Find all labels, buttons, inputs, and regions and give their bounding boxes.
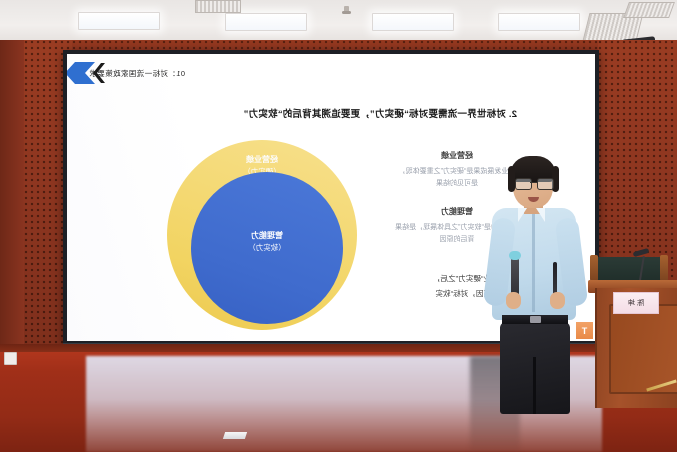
diagram-outer-label-line1: 经营业绩 <box>167 154 357 166</box>
shirt-placket <box>532 214 535 312</box>
hvac-vent-icon-corner <box>623 2 675 18</box>
diagram-inner-circle: 管理能力 （软实力） <box>191 172 343 324</box>
ceiling-panel-light-2 <box>225 13 307 31</box>
chair-arm-right <box>660 255 668 281</box>
ceiling-panel-light-4 <box>498 13 580 31</box>
speaker-trousers-seam <box>533 357 536 414</box>
ceiling-panel-light-3 <box>372 13 454 31</box>
speaker-hand-right <box>550 292 565 309</box>
paper-on-floor <box>223 432 247 439</box>
wall-outlet <box>4 352 17 365</box>
glasses-bridge <box>530 182 537 183</box>
glasses-lens-right <box>537 178 554 190</box>
podium-front-panel <box>609 304 677 394</box>
glasses-icon <box>515 178 552 188</box>
belt-buckle <box>530 316 541 323</box>
wall-left-return <box>0 40 24 352</box>
diagram-inner-label-line2: （软实力） <box>191 242 343 254</box>
diagram-inner-label: 管理能力 （软实力） <box>191 230 343 254</box>
presentation-photo-scene: 01：对标一流国家政策要求 2. 对标世界一流需要对标“硬实力”，更要追溯其背后… <box>0 0 677 452</box>
speaker-person <box>484 152 588 414</box>
name-card-text: 陈 坤 <box>628 298 644 308</box>
chair-arm-left <box>590 255 598 281</box>
hvac-vent-icon-center <box>195 0 241 13</box>
ceiling-panel-light-1 <box>78 12 160 30</box>
glasses-lens-left <box>515 178 532 190</box>
speaker-hair-side-left <box>508 166 515 192</box>
slide-heading: 2. 对标世界一流需要对标“硬实力”，更要追溯其背后的“软实力” <box>87 106 517 120</box>
slide-kicker: 01：对标一流国家政策要求 <box>89 68 185 79</box>
shirt-collar-left <box>518 208 527 222</box>
microphone-head <box>509 251 521 260</box>
diagram-inner-label-line1: 管理能力 <box>191 230 343 242</box>
sprinkler-icon <box>344 6 349 14</box>
shirt-collar-right <box>536 208 545 222</box>
speaker-hand-left <box>506 292 521 309</box>
podium-name-card: 陈 坤 <box>613 292 659 314</box>
